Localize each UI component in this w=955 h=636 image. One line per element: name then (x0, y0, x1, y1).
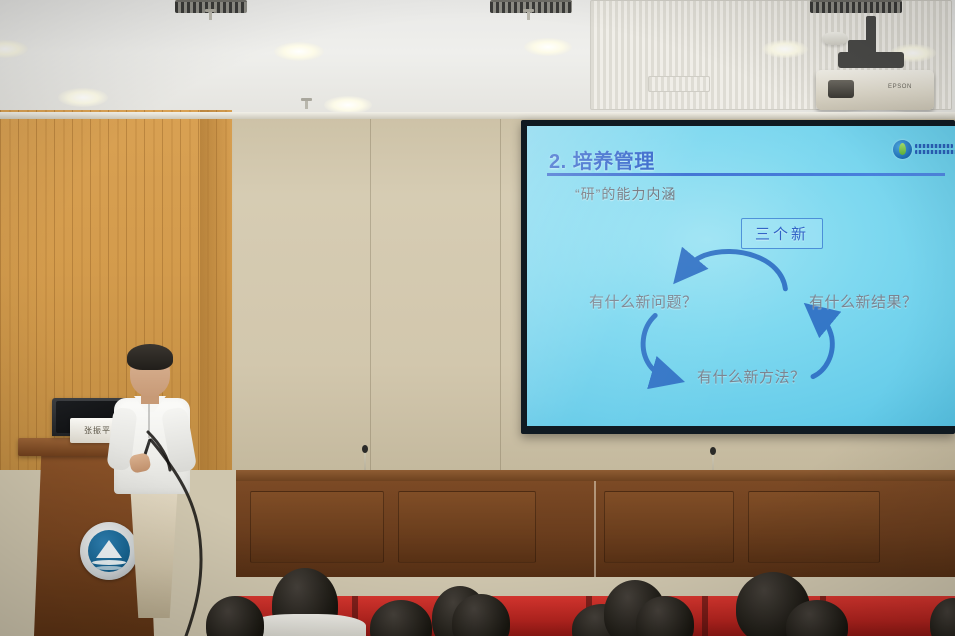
speaker-nameplate-text: 张振平 (84, 425, 111, 436)
lecture-hall-photo: EPSON 2. 培养管理 “研”的能力内涵 三个新 (0, 0, 955, 636)
ceiling-downlight-2 (58, 88, 108, 107)
stage-desk-seam (594, 481, 596, 577)
screen-display-area: 2. 培养管理 “研”的能力内涵 三个新 (527, 126, 955, 426)
wall-seam-2 (500, 118, 501, 470)
projector: EPSON (816, 70, 934, 110)
ceiling-cornice (0, 112, 955, 119)
ceiling-downlight-3 (274, 42, 324, 61)
stage-desk-top (236, 470, 955, 481)
speaker-trousers (126, 490, 182, 618)
speaker-shirt-placket (148, 404, 150, 438)
projection-screen: 2. 培养管理 “研”的能力内涵 三个新 (521, 120, 955, 434)
sprinkler-head-left (209, 11, 212, 20)
presentation-slide: 2. 培养管理 “研”的能力内涵 三个新 (527, 126, 955, 426)
wood-wall-shadow (200, 110, 234, 470)
projector-brand-label: EPSON (888, 84, 912, 90)
ceiling-downlight-5 (524, 38, 572, 56)
ceiling-downlight-6 (762, 40, 808, 58)
ceiling-air-diffuser (648, 76, 710, 92)
projector-lens-icon (828, 80, 854, 98)
wall-seam-1 (370, 118, 371, 470)
sprinkler-head-low (305, 100, 308, 109)
speaker (108, 338, 200, 618)
screen-glare (527, 126, 955, 426)
sprinkler-head-center (527, 11, 530, 20)
audience-shoulders-1 (246, 614, 366, 636)
seat-divider-4 (702, 596, 708, 636)
smoke-detector (822, 32, 848, 45)
ceiling-light-truss-right (810, 0, 902, 13)
projector-mount-arm (848, 40, 870, 56)
speaker-hair (127, 344, 173, 370)
